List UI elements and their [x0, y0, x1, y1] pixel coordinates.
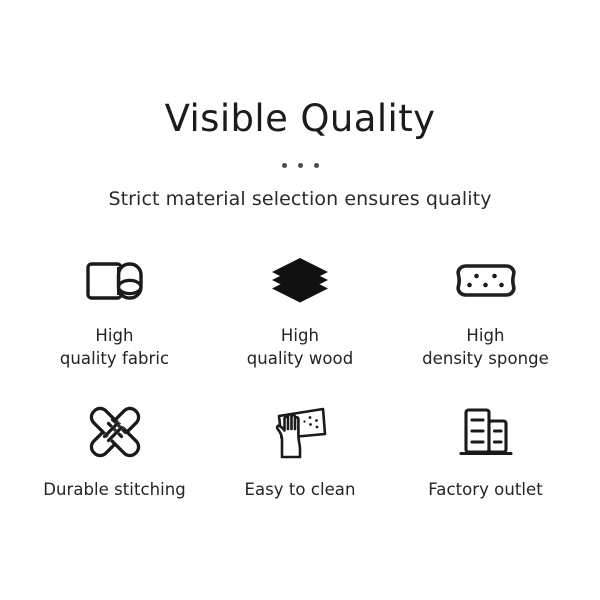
promo-poster: Visible Quality Strict material selectio…	[0, 0, 600, 600]
three-dots-divider-icon	[270, 160, 330, 170]
feature-item-sponge: High density sponge	[393, 252, 578, 370]
feature-row: High quality fabric High quality wood	[22, 252, 578, 370]
feature-grid: High quality fabric High quality wood	[22, 252, 578, 501]
feature-item-wood: High quality wood	[208, 252, 393, 370]
feature-item-clean: Easy to clean	[208, 404, 393, 501]
feature-label: Factory outlet	[428, 478, 542, 501]
fabric-roll-icon	[84, 252, 146, 310]
page-title: Visible Quality	[0, 96, 600, 142]
feature-item-stitching: Durable stitching	[22, 404, 207, 501]
feature-label: Easy to clean	[245, 478, 356, 501]
divider-dot	[298, 163, 303, 168]
hand-wiping-cloth-icon	[269, 404, 331, 462]
divider-dot	[314, 163, 319, 168]
feature-label: Durable stitching	[43, 478, 186, 501]
poster-header: Visible Quality Strict material selectio…	[0, 96, 600, 212]
feature-label: High density sponge	[422, 324, 549, 370]
page-subtitle: Strict material selection ensures qualit…	[0, 186, 600, 212]
feature-label: High quality fabric	[60, 324, 169, 370]
factory-buildings-icon	[457, 404, 515, 462]
feature-label: High quality wood	[247, 324, 353, 370]
feature-item-fabric: High quality fabric	[22, 252, 207, 370]
cross-stitch-icon	[86, 404, 144, 462]
wood-layers-stack-icon	[270, 252, 330, 310]
feature-row: Durable stitching	[22, 404, 578, 501]
feature-item-factory: Factory outlet	[393, 404, 578, 501]
divider-dot	[282, 163, 287, 168]
sponge-icon	[453, 252, 519, 310]
